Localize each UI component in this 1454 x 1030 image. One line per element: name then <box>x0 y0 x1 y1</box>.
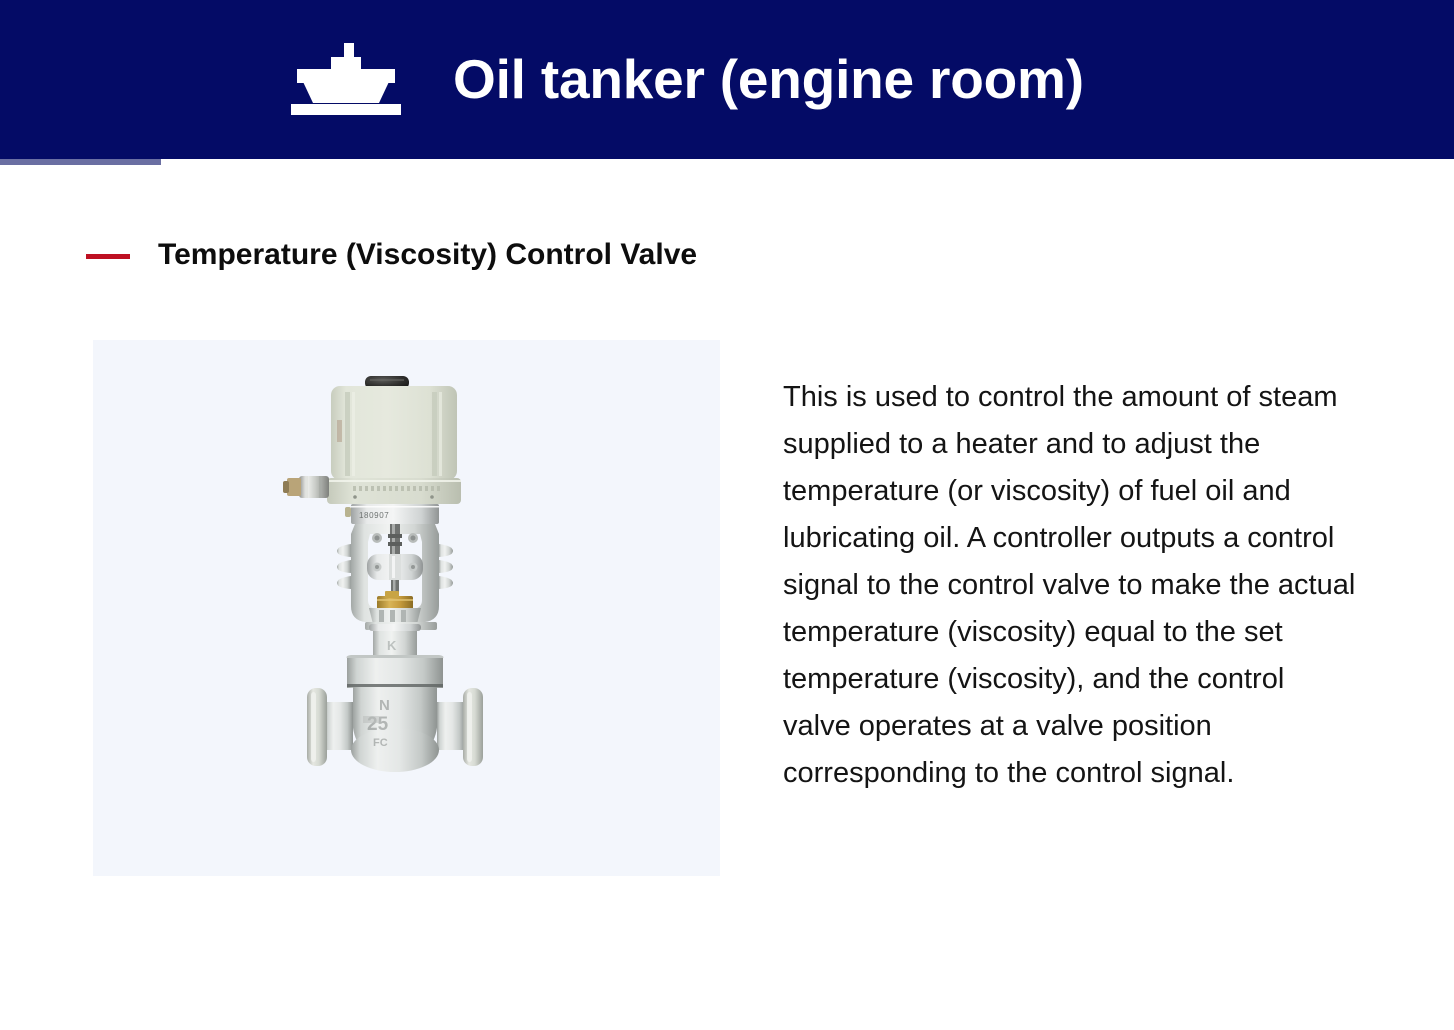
section-heading: Temperature (Viscosity) Control Valve <box>86 238 697 271</box>
valve-image-panel: 180907 <box>93 340 720 876</box>
ship-icon <box>287 43 405 117</box>
svg-text:N: N <box>379 697 390 714</box>
page-title: Oil tanker (engine room) <box>453 51 1084 109</box>
svg-text:FC: FC <box>373 737 388 749</box>
svg-text:180907: 180907 <box>359 511 389 520</box>
section-heading-label: Temperature (Viscosity) Control Valve <box>158 238 697 271</box>
red-dash-icon <box>86 254 130 259</box>
header-accent-strip <box>0 159 161 165</box>
description-paragraph: This is used to control the amount of st… <box>783 374 1358 797</box>
control-valve-illustration: 180907 <box>227 358 587 858</box>
header-content: Oil tanker (engine room) <box>287 43 1084 117</box>
page-header: Oil tanker (engine room) <box>0 0 1454 159</box>
svg-text:K: K <box>387 638 397 653</box>
